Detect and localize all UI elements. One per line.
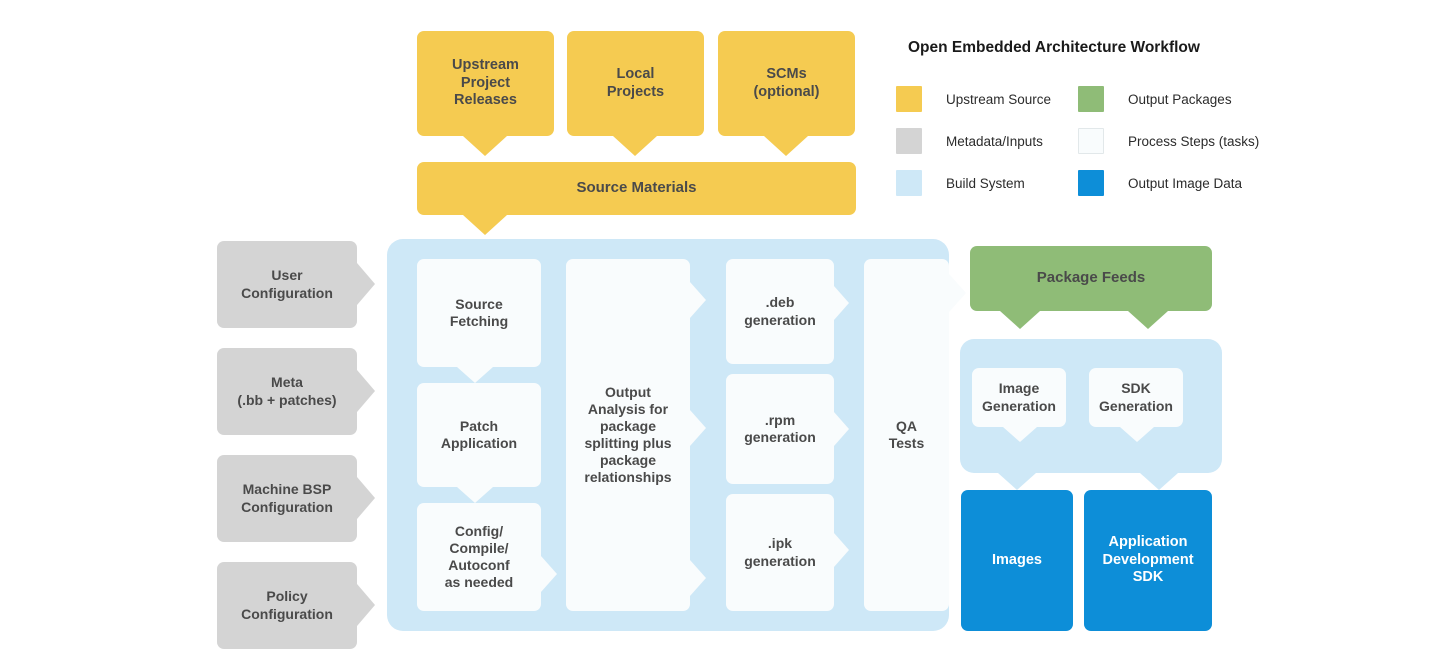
arrow-generation-container-to-images — [998, 473, 1036, 490]
legend-label-upstream-source: Upstream Source — [946, 92, 1051, 107]
arrow-config-compile-to-output-analysis — [541, 556, 557, 592]
legend-label-metadata-inputs: Metadata/Inputs — [946, 134, 1043, 149]
legend-swatch-build-system — [896, 170, 922, 196]
source-materials-bar: Source Materials — [417, 162, 856, 215]
arrow-rpm-generation-to-qa-tests — [834, 412, 849, 446]
arrow-machine-bsp-to-build-system — [357, 477, 375, 519]
legend-item-process-steps: Process Steps (tasks) — [1078, 128, 1259, 154]
source-box-scms: SCMs (optional) — [718, 31, 855, 136]
output-package-feeds: Package Feeds — [970, 246, 1212, 311]
legend-swatch-output-packages — [1078, 86, 1104, 112]
task-image-generation: Image Generation — [972, 368, 1066, 427]
task-qa-tests: QA Tests — [864, 259, 949, 611]
legend-swatch-upstream-source — [896, 86, 922, 112]
legend-label-process-steps: Process Steps (tasks) — [1128, 134, 1259, 149]
legend-swatch-process-steps — [1078, 128, 1104, 154]
arrow-source-materials-to-build-system — [463, 215, 507, 235]
arrow-user-configuration-to-build-system — [357, 263, 375, 305]
legend-label-output-image-data: Output Image Data — [1128, 176, 1242, 191]
input-box-user-configuration: User Configuration — [217, 241, 357, 328]
task-sdk-generation: SDK Generation — [1089, 368, 1183, 427]
source-box-upstream-project-releases: Upstream Project Releases — [417, 31, 554, 136]
source-box-local-projects: Local Projects — [567, 31, 704, 136]
legend-swatch-output-image-data — [1078, 170, 1104, 196]
task-config-compile-autoconf: Config/ Compile/ Autoconf as needed — [417, 503, 541, 611]
input-box-policy-configuration: Policy Configuration — [217, 562, 357, 649]
arrow-sdk-generation-down — [1120, 427, 1154, 442]
arrow-deb-generation-to-qa-tests — [834, 286, 849, 320]
arrow-patch-application-to-config-compile — [457, 487, 493, 503]
arrow-output-analysis-to-ipk-generation — [690, 560, 706, 596]
legend-label-build-system: Build System — [946, 176, 1025, 191]
task-deb-generation: .deb generation — [726, 259, 834, 364]
arrow-qa-tests-to-package-feeds — [949, 274, 966, 312]
legend-item-output-packages: Output Packages — [1078, 86, 1232, 112]
output-images: Images — [961, 490, 1073, 631]
arrow-ipk-generation-to-qa-tests — [834, 533, 849, 567]
task-source-fetching: Source Fetching — [417, 259, 541, 367]
input-box-machine-bsp-configuration: Machine BSP Configuration — [217, 455, 357, 542]
arrow-generation-container-to-app-dev-sdk — [1140, 473, 1178, 490]
legend-swatch-metadata-inputs — [896, 128, 922, 154]
input-box-meta: Meta (.bb + patches) — [217, 348, 357, 435]
legend-item-output-image-data: Output Image Data — [1078, 170, 1242, 196]
arrow-upstream-releases-to-source-materials — [463, 136, 507, 156]
task-output-analysis: Output Analysis for package splitting pl… — [566, 259, 690, 611]
arrow-image-generation-down — [1003, 427, 1037, 442]
arrow-output-analysis-to-deb-generation — [690, 282, 706, 318]
legend-title: Open Embedded Architecture Workflow — [908, 39, 1200, 57]
arrow-package-feeds-to-image-generation — [1000, 311, 1040, 329]
task-patch-application: Patch Application — [417, 383, 541, 487]
arrow-policy-configuration-to-build-system — [357, 584, 375, 626]
arrow-source-fetching-to-patch-application — [457, 367, 493, 383]
arrow-local-projects-to-source-materials — [613, 136, 657, 156]
architecture-workflow-diagram: Open Embedded Architecture Workflow Upst… — [0, 0, 1440, 669]
legend-label-output-packages: Output Packages — [1128, 92, 1232, 107]
arrow-output-analysis-to-rpm-generation — [690, 410, 706, 446]
task-rpm-generation: .rpm generation — [726, 374, 834, 484]
legend-item-upstream-source: Upstream Source — [896, 86, 1051, 112]
legend-item-metadata-inputs: Metadata/Inputs — [896, 128, 1043, 154]
arrow-scms-to-source-materials — [764, 136, 808, 156]
legend-item-build-system: Build System — [896, 170, 1025, 196]
arrow-package-feeds-to-sdk-generation — [1128, 311, 1168, 329]
output-application-development-sdk: Application Development SDK — [1084, 490, 1212, 631]
arrow-meta-to-build-system — [357, 370, 375, 412]
task-ipk-generation: .ipk generation — [726, 494, 834, 611]
